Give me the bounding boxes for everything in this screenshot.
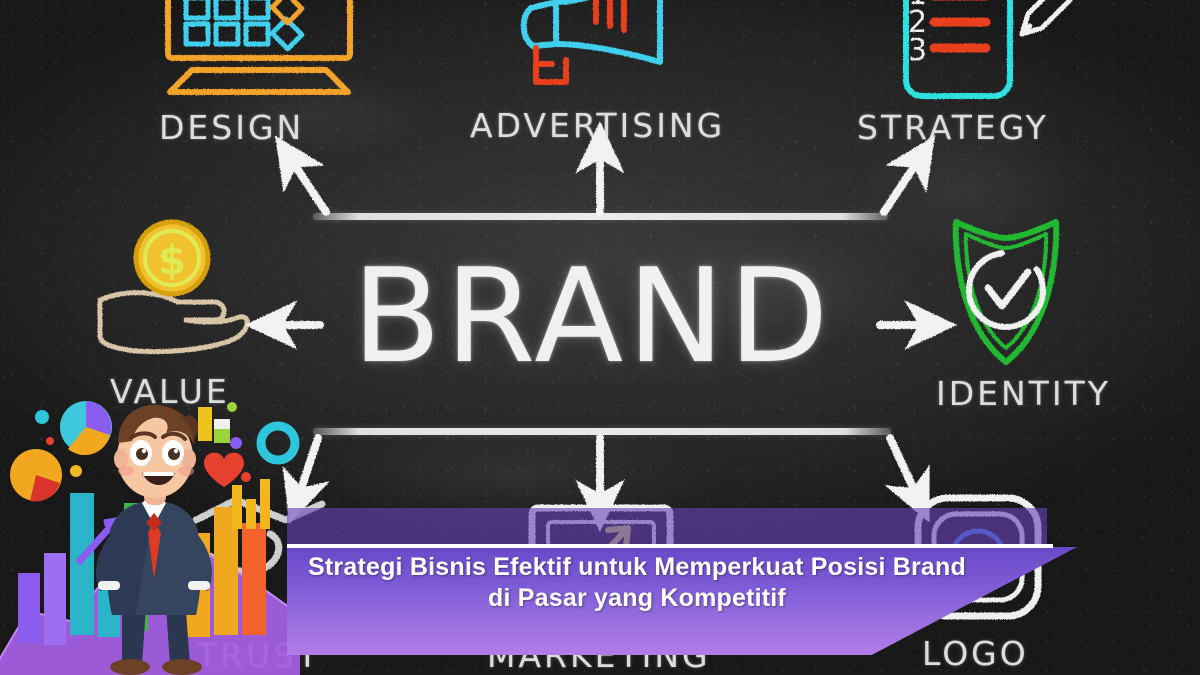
mini-bar-chart [232, 479, 270, 529]
node-label-identity: IDENTITY [936, 374, 1111, 413]
dot [241, 472, 251, 482]
block [198, 407, 212, 441]
pie-chart-bottom [10, 449, 62, 502]
businessman-illustration [0, 375, 310, 675]
banner-title: Strategi Bisnis Efektif untuk Memperkuat… [287, 552, 987, 614]
node-label-advertising: ADVERTISING [470, 106, 725, 145]
dot [35, 410, 49, 424]
dot [70, 465, 82, 477]
banner-title-line-1: Strategi Bisnis Efektif untuk Memperkuat… [287, 552, 987, 583]
center-word-brand: BRAND [352, 240, 833, 392]
ring-shape [261, 426, 295, 460]
dot [227, 402, 237, 412]
node-label-design: DESIGN [159, 108, 304, 147]
dot [230, 437, 242, 449]
heart-shape [204, 453, 244, 487]
node-label-strategy: STRATEGY [857, 108, 1049, 147]
pie-chart-top [60, 401, 112, 455]
banner-title-line-2: di Pasar yang Kompetitif [287, 583, 987, 614]
thumbnail-canvas: 1 2 3 $ [0, 0, 1200, 675]
node-label-logo: LOGO [922, 634, 1029, 673]
dot [46, 437, 54, 445]
banner-top-rule [287, 544, 1053, 548]
chalk-rule-bottom [313, 428, 891, 435]
chalk-rule-top [313, 213, 888, 220]
banner-translucent-band [287, 508, 1047, 548]
block [214, 429, 230, 443]
